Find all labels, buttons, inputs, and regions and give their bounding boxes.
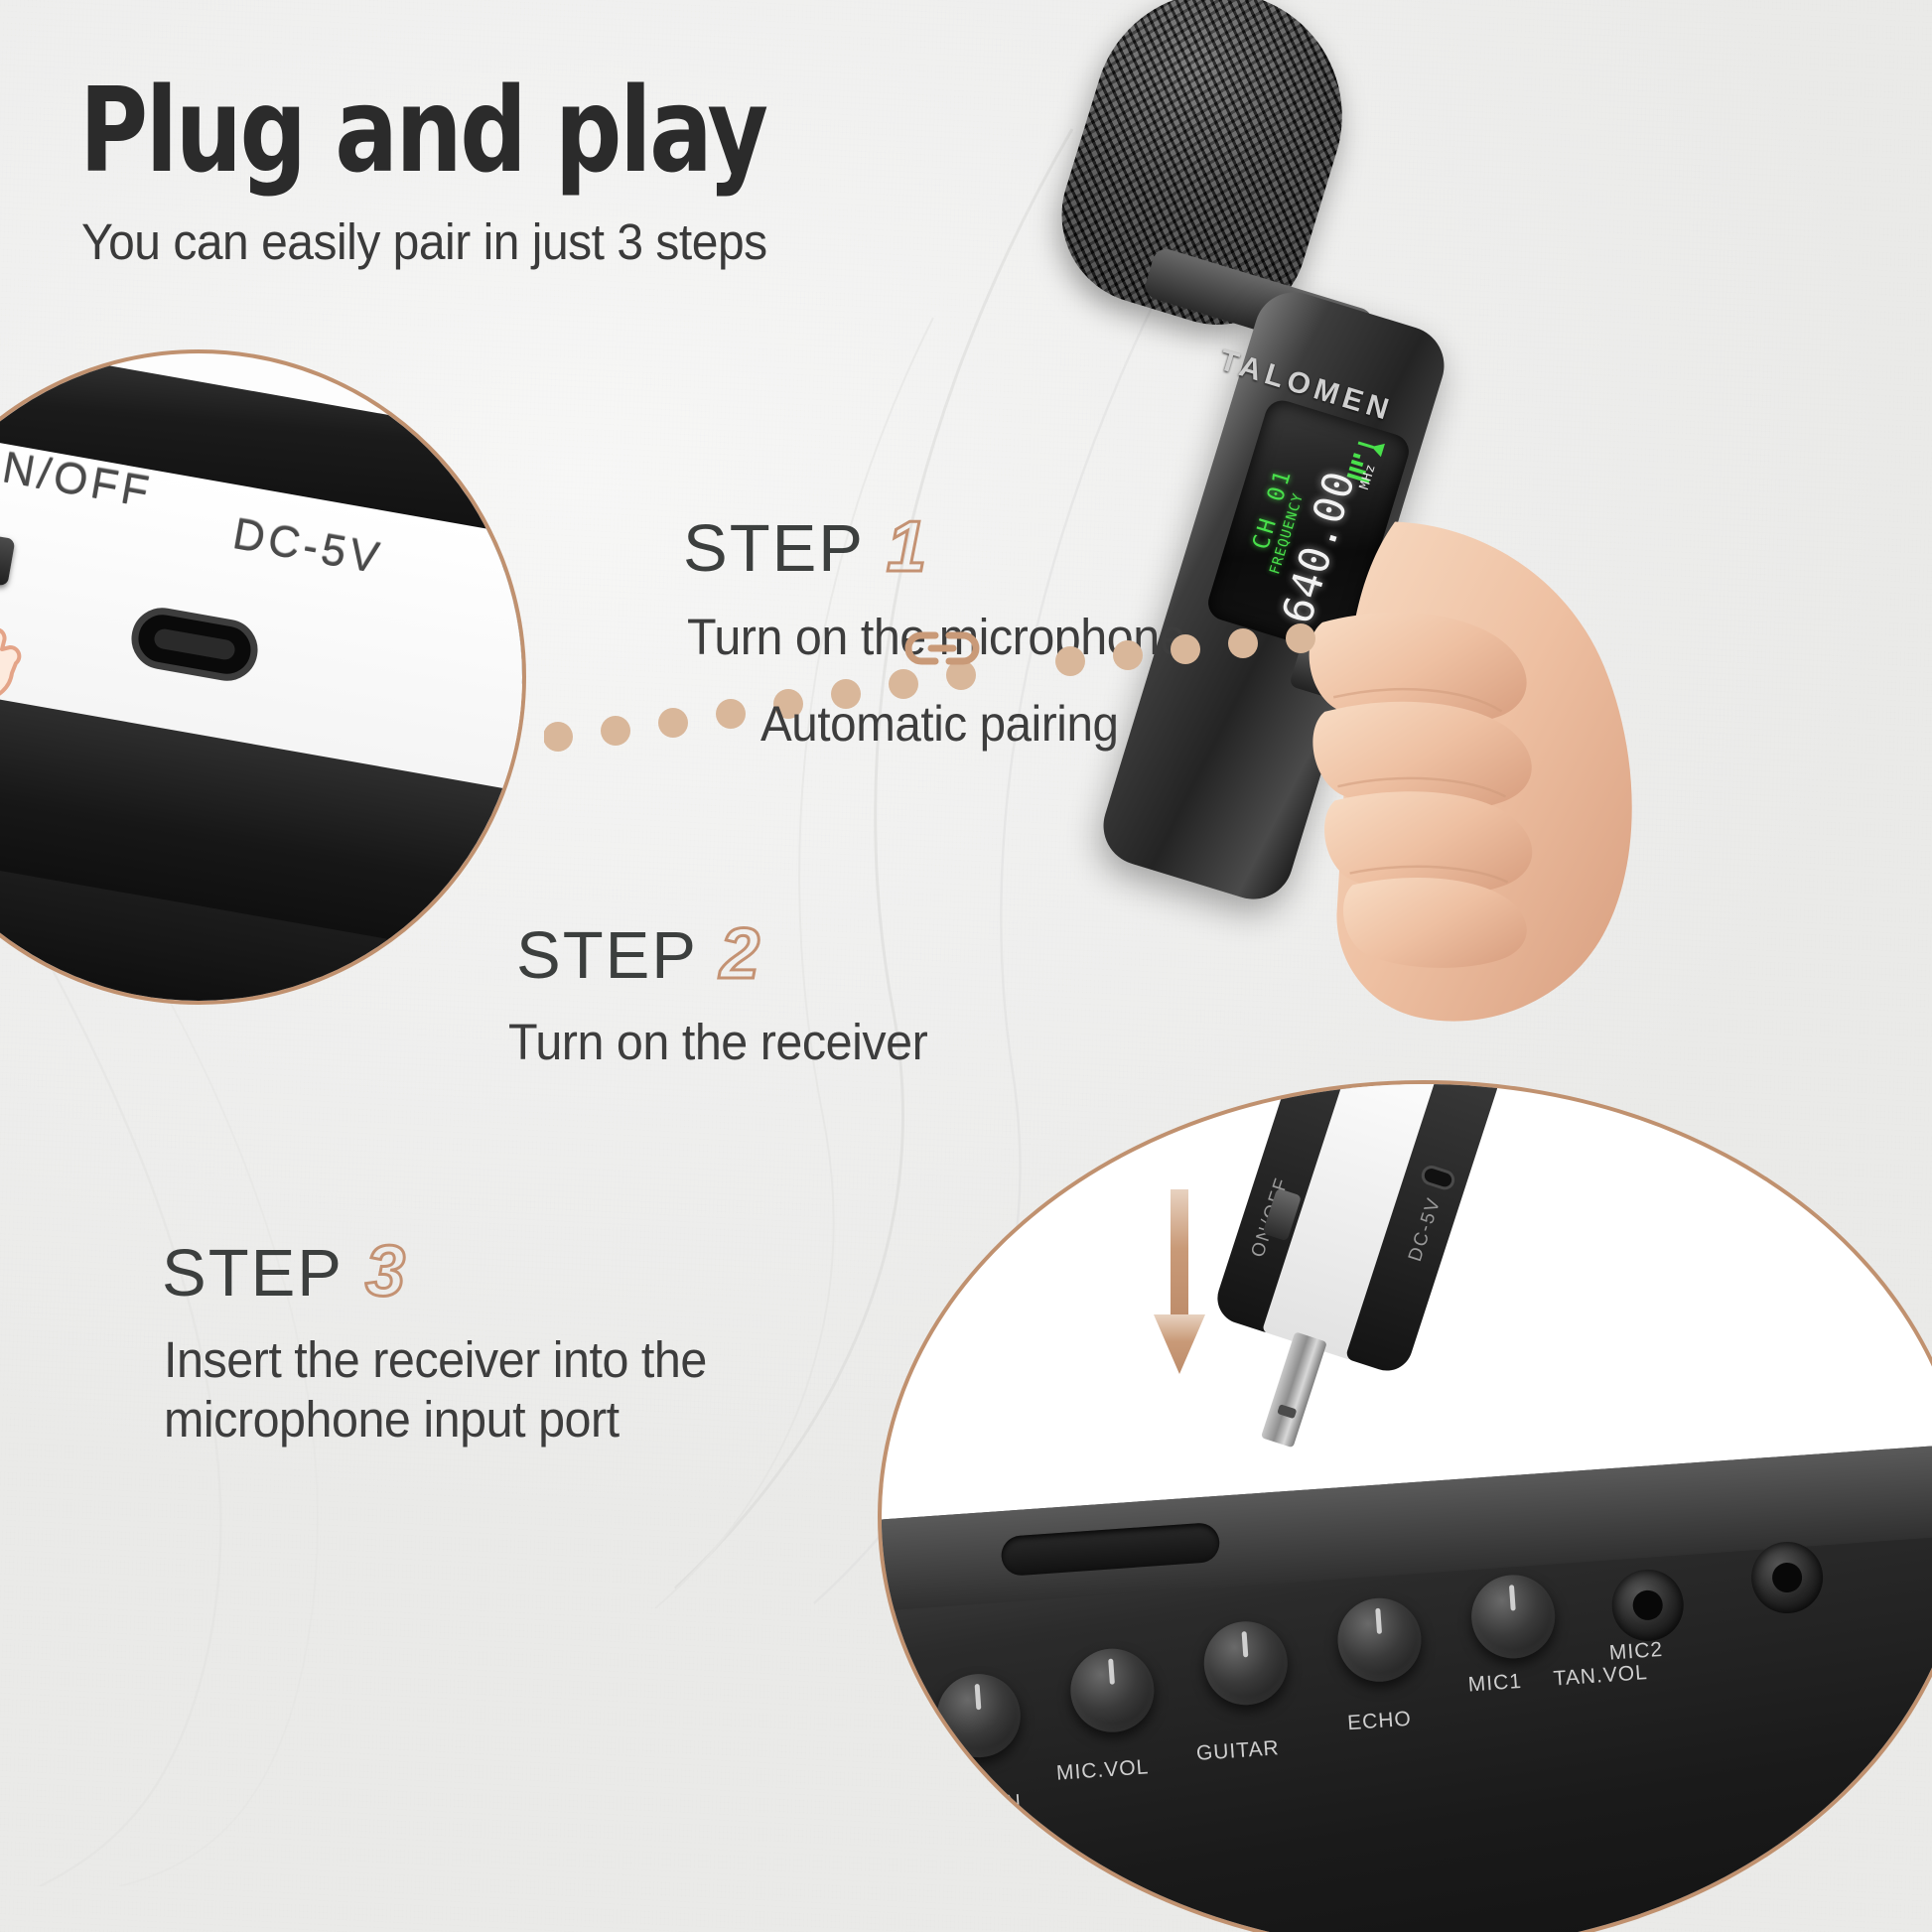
step-3-label: STEP [162, 1236, 344, 1311]
speaker-handle[interactable] [1000, 1522, 1220, 1577]
speaker-unit: MIC.VOL GUITAR ECHO IN TAN.VOL MIC1 MIC2 [878, 1439, 1932, 1932]
jack-mic2[interactable] [1749, 1540, 1826, 1616]
step-2-number: 2 [720, 914, 759, 994]
knob-label-mic-vol: MIC.VOL [1055, 1755, 1150, 1785]
step-3-heading: STEP3 [162, 1231, 405, 1312]
hand-holding-microphone [1276, 503, 1688, 1044]
jack-label-mic1: MIC1 [1467, 1670, 1523, 1698]
jack-label-mic2: MIC2 [1608, 1638, 1664, 1666]
wireless-receiver: ON/OFF DC-5V [1195, 1080, 1501, 1424]
music-note-icon [1837, 1916, 1901, 1932]
step-2-heading: STEP2 [516, 913, 759, 995]
chain-link-icon [901, 618, 983, 679]
knob-4[interactable] [1335, 1595, 1425, 1685]
knob-2[interactable] [1068, 1646, 1158, 1735]
wireless-microphone: TALOMEN CH 01 FREQUENCY 640.00 MHz [1028, 0, 1643, 1033]
step-3-description: Insert the receiver into the microphone … [164, 1330, 881, 1449]
knob-5[interactable] [1468, 1573, 1558, 1662]
step-1-number: 1 [887, 507, 926, 587]
step-1-heading: STEP1 [683, 506, 926, 588]
step-2-label: STEP [516, 918, 698, 993]
jack-mic1[interactable] [1609, 1567, 1686, 1643]
receiver-jack-plug [1261, 1331, 1327, 1448]
step-3-number: 3 [365, 1232, 405, 1311]
knob-3[interactable] [1201, 1618, 1291, 1708]
inset-receiver-closeup: ON/OFF DC-5V MIC.VOL GUITAR ECHO IN TAN.… [878, 1080, 1932, 1932]
knob-1[interactable] [934, 1671, 1024, 1760]
inset-onoff-closeup: ON/OFF DC-5V [0, 349, 526, 1005]
knob-label-tan-vol: TAN.VOL [1553, 1661, 1649, 1692]
knob-label-in: IN [998, 1790, 1023, 1816]
pairing-label: Automatic pairing [760, 695, 1119, 753]
step-2-description: Turn on the receiver [508, 1013, 927, 1071]
knob-label-echo: ECHO [1346, 1708, 1412, 1735]
knob-label-guitar: GUITAR [1195, 1736, 1280, 1766]
page-headline: Plug and play [79, 62, 766, 199]
pointing-hand-icon [0, 582, 34, 731]
step-1-label: STEP [683, 511, 865, 586]
page-subheadline: You can easily pair in just 3 steps [81, 212, 767, 271]
infographic-canvas: Plug and play You can easily pair in jus… [0, 0, 1932, 1932]
